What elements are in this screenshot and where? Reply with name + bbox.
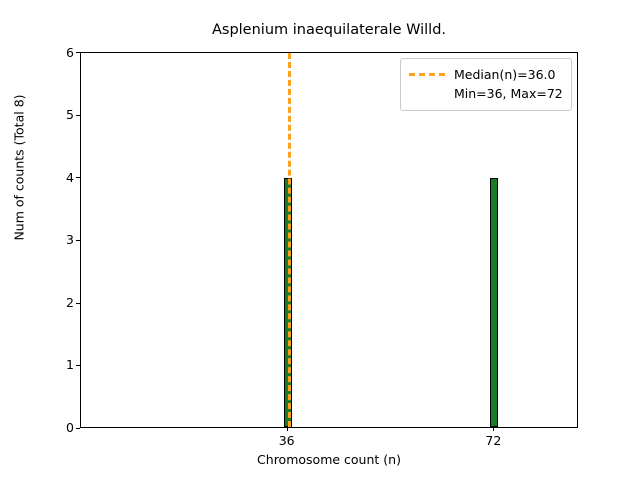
- y-tick-mark-0: [76, 428, 80, 429]
- median-line: [288, 53, 291, 427]
- y-tick-4: 4: [44, 170, 74, 185]
- chart-title: Asplenium inaequilaterale Willd.: [80, 22, 578, 38]
- x-tick-72: 72: [473, 433, 513, 448]
- legend-row-minmax: Min=36, Max=72: [409, 84, 563, 103]
- y-tick-5: 5: [44, 107, 74, 122]
- legend-blank-icon: [409, 92, 445, 95]
- x-tick-36: 36: [267, 433, 307, 448]
- y-tick-mark-1: [76, 365, 80, 366]
- y-tick-1: 1: [44, 357, 74, 372]
- y-axis-label: Num of counts (Total 8): [12, 0, 27, 338]
- legend-row-median: Median(n)=36.0: [409, 65, 563, 84]
- y-tick-2: 2: [44, 295, 74, 310]
- legend-label-median: Median(n)=36.0: [454, 67, 555, 82]
- legend-dashed-line-icon: [409, 73, 445, 76]
- y-tick-3: 3: [44, 232, 74, 247]
- y-tick-6: 6: [44, 45, 74, 60]
- x-tick-mark-72: [493, 427, 494, 431]
- bar-72: [490, 178, 498, 427]
- y-tick-mark-3: [76, 240, 80, 241]
- y-tick-mark-4: [76, 177, 80, 178]
- legend: Median(n)=36.0 Min=36, Max=72: [400, 58, 572, 111]
- y-tick-mark-6: [76, 52, 80, 53]
- chart-figure: Asplenium inaequilaterale Willd. 6 5 4 3…: [0, 0, 640, 480]
- legend-label-minmax: Min=36, Max=72: [454, 86, 563, 101]
- x-axis-label: Chromosome count (n): [80, 452, 578, 467]
- plot-area: Median(n)=36.0 Min=36, Max=72: [80, 52, 578, 428]
- y-tick-mark-2: [76, 303, 80, 304]
- x-tick-mark-36: [287, 427, 288, 431]
- y-tick-mark-5: [76, 115, 80, 116]
- y-tick-0: 0: [44, 420, 74, 435]
